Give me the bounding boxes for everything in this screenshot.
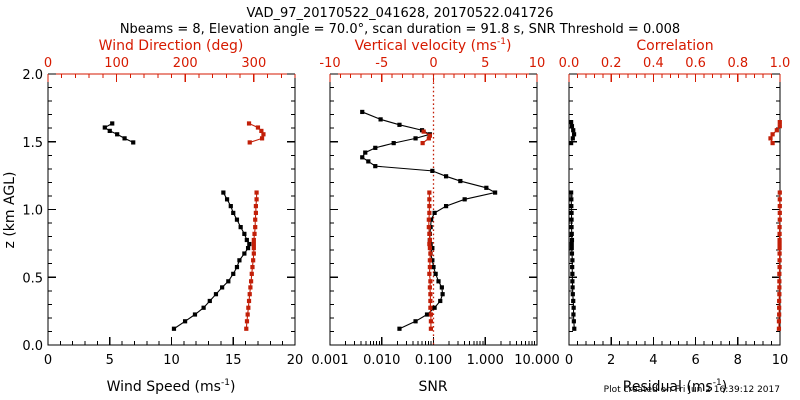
panel-snr-data-point bbox=[360, 110, 364, 114]
panel-wind-data-point bbox=[108, 129, 112, 133]
x-tick-label: 0 bbox=[44, 353, 52, 368]
x-top-tick-label: -5 bbox=[375, 56, 388, 71]
panel-snr-data-point bbox=[366, 159, 370, 163]
panel-wind-data-point bbox=[221, 190, 225, 194]
panel-residual-data-point bbox=[777, 285, 781, 289]
panel-snr-data-point bbox=[427, 232, 431, 236]
panel-snr-data-point bbox=[433, 211, 437, 215]
panel-residual-data-point bbox=[778, 197, 782, 201]
panel-snr-data-point bbox=[428, 238, 432, 242]
y-tick-label: 0.0 bbox=[22, 339, 43, 354]
panel-wind-data-point bbox=[245, 319, 249, 323]
panel-wind-data-point bbox=[231, 211, 235, 215]
panel-snr-data-point bbox=[429, 312, 433, 316]
panel-residual-data-point bbox=[777, 251, 781, 255]
x-top-tick-label: 0.6 bbox=[685, 56, 706, 71]
panel-residual-axis-titles: Residual (ms-1) Correlation bbox=[623, 38, 727, 395]
panel-snr-data-point bbox=[431, 265, 435, 269]
panel-snr-data-point bbox=[427, 218, 431, 222]
panel-residual-data-point bbox=[778, 124, 782, 128]
x-axis-label-snr: SNR bbox=[418, 379, 447, 395]
panel-snr-data-point bbox=[421, 141, 425, 145]
panel-wind-data-point bbox=[247, 299, 251, 303]
x-tick-label: 10.000 bbox=[514, 353, 560, 368]
panel-wind-series-1 bbox=[103, 121, 252, 330]
panel-snr-data-point bbox=[428, 279, 432, 283]
panel-wind-data-point bbox=[252, 232, 256, 236]
panel-wind-data-point bbox=[246, 246, 250, 250]
panel-residual-data-point bbox=[777, 327, 781, 331]
panel-residual-data-point bbox=[570, 258, 574, 262]
panel-wind-data-point bbox=[244, 327, 248, 331]
panel-residual-data-point bbox=[571, 299, 575, 303]
panel-snr-data-point bbox=[493, 190, 497, 194]
panel-snr-data-point bbox=[422, 129, 426, 133]
panel-residual-data-point bbox=[777, 265, 781, 269]
x-tick-label: 10 bbox=[772, 353, 789, 368]
panel-residual-data-point bbox=[569, 141, 573, 145]
panel-wind-data-point bbox=[239, 225, 243, 229]
x-tick-label: 5 bbox=[106, 353, 114, 368]
panel-residual-data-point bbox=[777, 225, 781, 229]
panel-wind-data-point bbox=[183, 319, 187, 323]
panel-snr-data-point bbox=[427, 272, 431, 276]
panel-wind-data-point bbox=[202, 306, 206, 310]
panel-snr-data-point bbox=[430, 169, 434, 173]
panel-residual-data-point bbox=[570, 265, 574, 269]
panel-wind-data-point bbox=[250, 265, 254, 269]
panel-wind-data-point bbox=[246, 312, 250, 316]
panel-wind-data-point bbox=[235, 218, 239, 222]
panel-snr-data-point bbox=[397, 123, 401, 127]
panel-wind-data-point bbox=[252, 251, 256, 255]
panel-snr-data-point bbox=[429, 319, 433, 323]
panel-snr-data-point bbox=[444, 174, 448, 178]
x-top-tick-label: 0.2 bbox=[601, 56, 622, 71]
y-tick-label: 1.0 bbox=[22, 204, 43, 219]
panel-residual-frame bbox=[569, 74, 780, 345]
panel-residual-data-point bbox=[777, 272, 781, 276]
x-tick-label: 4 bbox=[649, 353, 657, 368]
panel-residual-data-point bbox=[569, 197, 573, 201]
x-tick-label: 0.010 bbox=[363, 353, 400, 368]
x-tick-label: 2 bbox=[607, 353, 615, 368]
panel-snr-series-2 bbox=[421, 129, 433, 330]
x-tick-label: 8 bbox=[734, 353, 742, 368]
panel-residual-data-point bbox=[570, 124, 574, 128]
panel-snr-data-point bbox=[427, 197, 431, 201]
panel-wind-data-point bbox=[252, 246, 256, 250]
panel-wind-data-point bbox=[242, 251, 246, 255]
panel-snr-data-point bbox=[360, 155, 364, 159]
panel-snr-data-point bbox=[427, 190, 431, 194]
panel-residual-data-point bbox=[777, 292, 781, 296]
x-tick-label: 0.001 bbox=[311, 353, 348, 368]
panel-snr-data-point bbox=[427, 211, 431, 215]
panel-snr-data-point bbox=[463, 197, 467, 201]
panel-residual-data-point bbox=[569, 120, 573, 124]
panel-wind-data-point bbox=[220, 285, 224, 289]
panel-snr-data-point bbox=[392, 141, 396, 145]
panel-residual-data-point bbox=[570, 285, 574, 289]
panel-wind-data-point bbox=[249, 279, 253, 283]
panel-residual-data-point bbox=[572, 327, 576, 331]
x-top-tick-label: 100 bbox=[104, 56, 129, 71]
panel-residual-data-point bbox=[775, 128, 779, 132]
panel-wind-data-point bbox=[103, 125, 107, 129]
panel-snr-data-point bbox=[425, 312, 429, 316]
panel-residual: 02468100.00.20.40.60.81.0 bbox=[559, 56, 791, 368]
panel-residual-data-point bbox=[778, 204, 782, 208]
panel-wind-data-point bbox=[260, 136, 264, 140]
panel-wind-data-point bbox=[229, 204, 233, 208]
panel-snr-data-point bbox=[484, 186, 488, 190]
panel-residual-data-point bbox=[777, 319, 781, 323]
y-tick-label: 0.5 bbox=[22, 271, 43, 286]
panel-snr-data-point bbox=[438, 299, 442, 303]
panel-wind-data-point bbox=[248, 140, 252, 144]
panel-wind-data-point bbox=[214, 292, 218, 296]
panel-wind-data-point bbox=[252, 238, 256, 242]
panel-wind-data-point bbox=[242, 232, 246, 236]
panel-wind-data-point bbox=[115, 132, 119, 136]
panel-snr-data-point bbox=[428, 285, 432, 289]
panel-wind-data-point bbox=[237, 258, 241, 262]
panel-snr-data-point bbox=[373, 164, 377, 168]
panel-wind-speed: 0.00.51.01.52.0051015200100200300 bbox=[22, 56, 303, 368]
panel-wind-data-point bbox=[252, 242, 256, 246]
panel-snr-data-point bbox=[434, 272, 438, 276]
panel-wind-data-point bbox=[246, 306, 250, 310]
panel-wind-data-point bbox=[254, 190, 258, 194]
panel-residual-data-point bbox=[569, 190, 573, 194]
panel-snr-data-point bbox=[427, 225, 431, 229]
x-top-tick-label: 0.4 bbox=[643, 56, 664, 71]
panel-wind-data-point bbox=[225, 197, 229, 201]
panel-wind-data-point bbox=[253, 225, 257, 229]
panel-wind-data-point bbox=[226, 279, 230, 283]
panel-snr-data-point bbox=[428, 292, 432, 296]
panel-residual-data-point bbox=[777, 238, 781, 242]
panel-residual-data-point bbox=[570, 251, 574, 255]
figure-title-line-2: Nbeams = 8, Elevation angle = 70.0°, sca… bbox=[120, 22, 680, 37]
panel-residual-data-point bbox=[777, 246, 781, 250]
panel-wind-data-point bbox=[208, 299, 212, 303]
panel-snr-data-point bbox=[428, 251, 432, 255]
x-top-tick-label: 200 bbox=[173, 56, 198, 71]
panel-snr-data-point bbox=[427, 204, 431, 208]
panel-snr-data-point bbox=[428, 258, 432, 262]
panel-residual-data-point bbox=[771, 141, 775, 145]
x-axis-label-wind-direction: Wind Direction (deg) bbox=[99, 38, 244, 54]
x-tick-label: 10 bbox=[163, 353, 180, 368]
panel-residual-data-point bbox=[777, 258, 781, 262]
x-tick-label: 15 bbox=[225, 353, 242, 368]
panel-wind-data-point bbox=[251, 258, 255, 262]
panel-snr-data-point bbox=[428, 265, 432, 269]
x-top-tick-label: 5 bbox=[481, 56, 489, 71]
x-tick-label: 0 bbox=[565, 353, 573, 368]
panel-snr-data-point bbox=[440, 285, 444, 289]
x-top-tick-label: 10 bbox=[529, 56, 546, 71]
x-tick-label: 0.100 bbox=[415, 353, 452, 368]
panel-wind-data-point bbox=[235, 265, 239, 269]
panel-wind-data-point bbox=[254, 211, 258, 215]
panel-snr-data-point bbox=[428, 299, 432, 303]
panel-snr: 0.0010.0100.1001.00010.000-10-50510 bbox=[311, 56, 559, 368]
panel-snr-data-point bbox=[429, 327, 433, 331]
panel-wind-data-point bbox=[256, 125, 260, 129]
x-axis-label-residual: Residual (ms-1) bbox=[623, 378, 727, 395]
panel-residual-data-point bbox=[777, 299, 781, 303]
x-top-tick-label: 0 bbox=[44, 56, 52, 71]
panel-residual-data-point bbox=[771, 132, 775, 136]
y-axis-label: z (km AGL) bbox=[2, 172, 18, 249]
panel-snr-data-point bbox=[427, 242, 431, 246]
panel-residual-data-point bbox=[777, 306, 781, 310]
panel-snr-data-point bbox=[363, 150, 367, 154]
plot-canvas: VAD_97_20170522_041628, 20170522.041726 … bbox=[0, 0, 800, 400]
panel-residual-series-1 bbox=[569, 120, 576, 331]
panel-residual-data-point bbox=[570, 246, 574, 250]
panel-wind-data-point bbox=[231, 272, 235, 276]
panel-wind-series-2 bbox=[244, 121, 265, 330]
panel-residual-data-point bbox=[570, 272, 574, 276]
panel-snr-data-point bbox=[458, 179, 462, 183]
x-top-tick-label: 0.8 bbox=[727, 56, 748, 71]
panel-residual-data-point bbox=[569, 225, 573, 229]
x-tick-label: 6 bbox=[691, 353, 699, 368]
panel-wind-data-point bbox=[193, 312, 197, 316]
panel-snr-data-point bbox=[413, 136, 417, 140]
panel-snr-data-point bbox=[428, 134, 432, 138]
panel-residual-data-point bbox=[572, 319, 576, 323]
panel-residual-data-point bbox=[778, 211, 782, 215]
panel-wind-data-point bbox=[172, 327, 176, 331]
panel-residual-data-point bbox=[778, 218, 782, 222]
panel-wind-data-point bbox=[254, 204, 258, 208]
panel-residual-data-point bbox=[569, 218, 573, 222]
panel-residual-data-point bbox=[570, 279, 574, 283]
x-top-tick-label: 1.0 bbox=[770, 56, 791, 71]
panel-wind-data-point bbox=[247, 242, 251, 246]
panel-wind-frame bbox=[48, 74, 295, 345]
x-top-tick-label: 0.0 bbox=[559, 56, 580, 71]
panel-residual-data-point bbox=[768, 136, 772, 140]
x-tick-label: 20 bbox=[287, 353, 304, 368]
panel-residual-data-point bbox=[571, 292, 575, 296]
panel-snr-data-point bbox=[436, 279, 440, 283]
panel-wind-data-point bbox=[131, 140, 135, 144]
x-axis-label-vertical-velocity: Vertical velocity (ms-1) bbox=[355, 37, 512, 54]
panel-residual-data-point bbox=[777, 242, 781, 246]
panel-snr-data-point bbox=[397, 327, 401, 331]
x-top-tick-label: 300 bbox=[241, 56, 266, 71]
panel-wind-data-point bbox=[248, 285, 252, 289]
panel-residual-data-point bbox=[569, 211, 573, 215]
y-tick-label: 1.5 bbox=[22, 136, 43, 151]
x-top-tick-label: 0 bbox=[429, 56, 437, 71]
panel-residual-data-point bbox=[777, 232, 781, 236]
panel-wind-data-point bbox=[253, 218, 257, 222]
panel-residual-data-point bbox=[777, 312, 781, 316]
panel-snr-data-point bbox=[428, 246, 432, 250]
panel-residual-data-point bbox=[570, 242, 574, 246]
panel-residual-data-point bbox=[571, 136, 575, 140]
panel-residual-data-point bbox=[572, 132, 576, 136]
panel-wind-data-point bbox=[110, 121, 114, 125]
panel-residual-data-point bbox=[777, 279, 781, 283]
panel-residual-data-point bbox=[571, 128, 575, 132]
panel-snr-data-point bbox=[433, 306, 437, 310]
panel-residual-data-point bbox=[778, 120, 782, 124]
panel-residual-data-point bbox=[778, 190, 782, 194]
panel-wind-data-point bbox=[245, 238, 249, 242]
x-tick-label: 1.000 bbox=[467, 353, 504, 368]
y-tick-label: 2.0 bbox=[22, 68, 43, 83]
panel-wind-data-point bbox=[122, 136, 126, 140]
panel-snr-data-point bbox=[373, 146, 377, 150]
panel-snr-data-point bbox=[441, 292, 445, 296]
vad-figure: VAD_97_20170522_041628, 20170522.041726 … bbox=[0, 0, 800, 400]
panel-residual-data-point bbox=[570, 232, 574, 236]
x-axis-label-wind-speed: Wind Speed (ms-1) bbox=[107, 378, 236, 395]
panel-residual-data-point bbox=[571, 312, 575, 316]
panel-snr-data-point bbox=[413, 319, 417, 323]
panel-residual-data-point bbox=[569, 204, 573, 208]
panel-residual-data-point bbox=[572, 306, 576, 310]
panel-wind-data-point bbox=[254, 197, 258, 201]
figure-title-line-1: VAD_97_20170522_041628, 20170522.041726 bbox=[247, 6, 554, 21]
panel-snr-data-point bbox=[444, 204, 448, 208]
panel-wind-data-point bbox=[248, 292, 252, 296]
panel-residual-data-point bbox=[570, 238, 574, 242]
panel-wind-data-point bbox=[250, 272, 254, 276]
x-axis-label-correlation: Correlation bbox=[636, 38, 713, 54]
panel-snr-data-point bbox=[379, 117, 383, 121]
x-top-tick-label: -10 bbox=[319, 56, 340, 71]
panel-wind-data-point bbox=[247, 121, 251, 125]
panel-snr-data-point bbox=[428, 306, 432, 310]
